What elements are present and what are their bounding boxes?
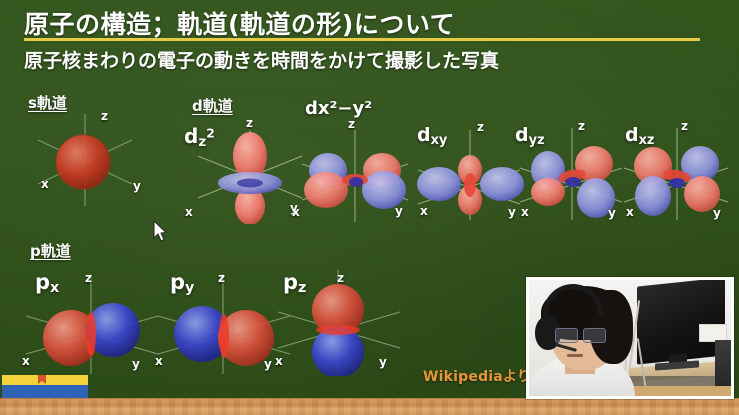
orbital-diagram-s [20, 110, 150, 210]
orbital-label-dx2y2: dx²−y² [305, 100, 372, 118]
axis-label-z: z [578, 120, 585, 132]
slide-screenshot: 原子の構造；軌道(軌道の形)について 原子核まわりの電子の動きを時間をかけて撮影… [0, 0, 739, 415]
axis-label-z: z [337, 272, 344, 284]
axis-label-z: z [246, 117, 253, 129]
axis-label-x: x [185, 206, 193, 218]
glasses-lens-left [555, 328, 578, 343]
axis-label-y: y [508, 206, 516, 218]
axis-label-x: x [155, 355, 163, 367]
axis-label-x: x [521, 206, 529, 218]
axis-label-x: x [420, 205, 428, 217]
axis-label-x: x [275, 355, 283, 367]
glasses [555, 328, 607, 341]
title-underline [24, 38, 700, 41]
axis-label-z: z [101, 110, 108, 122]
page-subtitle: 原子核まわりの電子の動きを時間をかけて撮影した写真 [24, 46, 499, 73]
axis-label-y: y [133, 180, 141, 192]
axis-label-y: y [132, 358, 140, 370]
axis-label-z: z [477, 121, 484, 133]
orbital-diagram-px [18, 272, 164, 376]
axis-label-z: z [85, 272, 92, 284]
axis-label-y: y [379, 356, 387, 368]
glasses-lens-right [583, 328, 606, 343]
axis-label-x: x [292, 206, 300, 218]
axis-label-y: y [608, 207, 616, 219]
axis-label-y: y [395, 205, 403, 217]
axis-label-z: z [348, 118, 355, 130]
section-heading-p: p軌道 [30, 240, 71, 261]
page-title: 原子の構造；軌道(軌道の形)について [24, 5, 455, 41]
webcam-overlay[interactable] [526, 277, 734, 399]
axis-label-z: z [218, 272, 225, 284]
axis-label-x: x [22, 355, 30, 367]
presenter-mouth [567, 354, 583, 357]
source-credit: Wikipediaより [423, 366, 531, 386]
axis-label-y: y [713, 207, 721, 219]
monitor [637, 277, 725, 364]
chalkboard-ledge [0, 398, 739, 415]
axis-label-x: x [41, 178, 49, 190]
section-heading-d: d軌道 [192, 95, 233, 116]
chalk-tray-object [2, 375, 90, 399]
axis-label-z: z [681, 120, 688, 132]
mouse-cursor [153, 220, 169, 244]
axis-label-x: x [626, 206, 634, 218]
